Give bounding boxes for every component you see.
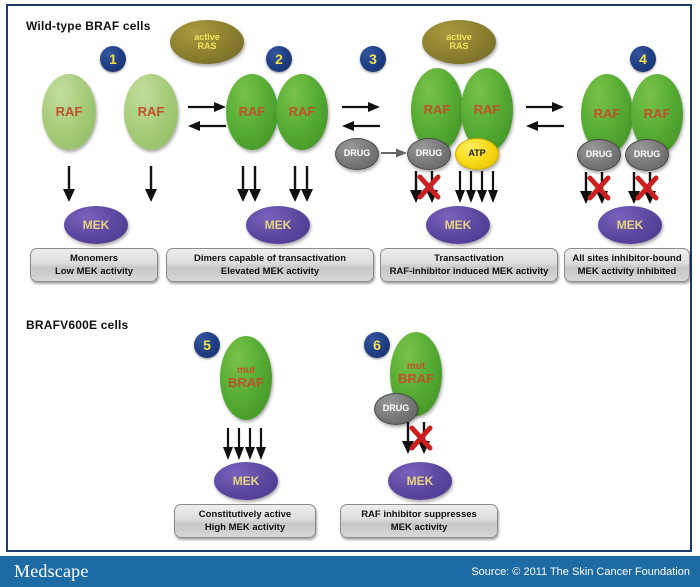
mek-ellipse-panel1: MEK	[64, 206, 128, 244]
signal-arrow-group-panel3-active	[454, 169, 502, 207]
caption-line-1: All sites inhibitor-bound	[572, 252, 681, 265]
free-drug-ellipse: DRUG	[335, 138, 379, 170]
mek-label: MEK	[83, 219, 110, 231]
signal-arrow-group-panel2-b	[286, 164, 322, 204]
panel-badge-5: 5	[194, 332, 220, 358]
caption-line-1: RAF inhibitor suppresses	[361, 508, 477, 521]
raf-label: RAF	[594, 107, 621, 120]
caption-line-1: Dimers capable of transactivation	[194, 252, 346, 265]
panel-badge-2: 2	[266, 46, 292, 72]
panel-badge-6: 6	[364, 332, 390, 358]
section-title-wild-type: Wild-type BRAF cells	[26, 19, 151, 33]
bound-drug-ellipse-panel4-a: DRUG	[577, 139, 621, 171]
medscape-logo: Medscape	[14, 561, 89, 582]
equilibrium-arrows-3-4	[524, 98, 566, 138]
mek-ellipse-panel3: MEK	[426, 206, 490, 244]
drug-label: DRUG	[416, 149, 443, 158]
drug-binding-arrow	[380, 145, 408, 161]
panel-badge-1: 1	[100, 46, 126, 72]
mek-label: MEK	[233, 475, 260, 487]
raf-label: RAF	[474, 103, 501, 116]
panel-caption-3: Transactivation RAF-inhibitor induced ME…	[380, 248, 558, 282]
signal-arrow-group-panel5	[222, 426, 270, 464]
mek-ellipse-panel4: MEK	[598, 206, 662, 244]
caption-line-1: Transactivation	[434, 252, 504, 265]
active-ras-ellipse: active RAS	[170, 20, 244, 64]
source-credit: Source: © 2011 The Skin Cancer Foundatio…	[471, 566, 690, 578]
section-title-mutant: BRAFV600E cells	[26, 318, 128, 332]
bound-drug-ellipse-panel4-b: DRUG	[625, 139, 669, 171]
signal-arrow-group-panel2-a	[234, 164, 270, 204]
raf-dimer-b: RAF	[276, 74, 328, 150]
blocked-signal-arrows-panel6	[400, 420, 440, 458]
raf-label: RAF	[56, 105, 83, 118]
panel-caption-1: Monomers Low MEK activity	[30, 248, 158, 282]
drug-label: DRUG	[634, 150, 661, 159]
raf-monomer-a: RAF	[42, 74, 96, 150]
raf-label: RAF	[239, 105, 266, 118]
footer-bar: Medscape Source: © 2011 The Skin Cancer …	[0, 556, 700, 587]
equilibrium-arrows-1-2	[186, 98, 228, 138]
mut-braf-ellipse-panel5: mut BRAF	[220, 336, 272, 420]
mek-ellipse-panel2: MEK	[246, 206, 310, 244]
caption-line-2: MEK activity	[391, 521, 448, 534]
caption-line-1: Monomers	[70, 252, 118, 265]
mek-ellipse-panel5: MEK	[214, 462, 278, 500]
mut-label-line2: BRAF	[398, 372, 434, 385]
ras-label-line2: RAS	[197, 42, 216, 51]
active-ras-ellipse-panel3: active RAS	[422, 20, 496, 64]
mek-ellipse-panel6: MEK	[388, 462, 452, 500]
mek-label: MEK	[445, 219, 472, 231]
raf-label: RAF	[644, 107, 671, 120]
caption-line-2: Elevated MEK activity	[221, 265, 319, 278]
panel-caption-2: Dimers capable of transactivation Elevat…	[166, 248, 374, 282]
blocked-signal-arrows-panel4-a	[578, 170, 618, 208]
raf-dimer-a: RAF	[226, 74, 278, 150]
blocked-signal-arrows-panel4-b	[626, 170, 666, 208]
signal-arrow-group-panel1-b	[138, 164, 168, 204]
drug-label: DRUG	[344, 149, 371, 158]
ras-label-line2: RAS	[449, 42, 468, 51]
panel-badge-3: 3	[360, 46, 386, 72]
drug-label: DRUG	[586, 150, 613, 159]
atp-label: ATP	[468, 149, 485, 158]
panel-badge-4: 4	[630, 46, 656, 72]
signal-arrow-group-panel1-a	[56, 164, 86, 204]
mek-label: MEK	[407, 475, 434, 487]
bound-atp-ellipse-panel3: ATP	[455, 138, 499, 170]
panel-caption-6: RAF inhibitor suppresses MEK activity	[340, 504, 498, 538]
bound-drug-ellipse-panel3: DRUG	[407, 138, 451, 170]
mek-label: MEK	[617, 219, 644, 231]
equilibrium-arrows-2-3	[340, 98, 382, 138]
diagram-frame: Wild-type BRAF cells BRAFV600E cells act…	[6, 4, 692, 552]
caption-line-2: High MEK activity	[205, 521, 285, 534]
drug-label: DRUG	[383, 404, 410, 413]
caption-line-2: RAF-inhibitor induced MEK activity	[390, 265, 549, 278]
mek-label: MEK	[265, 219, 292, 231]
caption-line-1: Constitutively active	[199, 508, 291, 521]
figure-canvas: Wild-type BRAF cells BRAFV600E cells act…	[0, 0, 700, 587]
raf-label: RAF	[424, 103, 451, 116]
panel-caption-4: All sites inhibitor-bound MEK activity i…	[564, 248, 690, 282]
raf-monomer-b: RAF	[124, 74, 178, 150]
raf-label: RAF	[289, 105, 316, 118]
caption-line-2: Low MEK activity	[55, 265, 133, 278]
blocked-signal-arrows-panel3	[408, 169, 448, 207]
caption-line-2: MEK activity inhibited	[578, 265, 677, 278]
mut-label-line2: BRAF	[228, 376, 264, 389]
raf-label: RAF	[138, 105, 165, 118]
panel-caption-5: Constitutively active High MEK activity	[174, 504, 316, 538]
